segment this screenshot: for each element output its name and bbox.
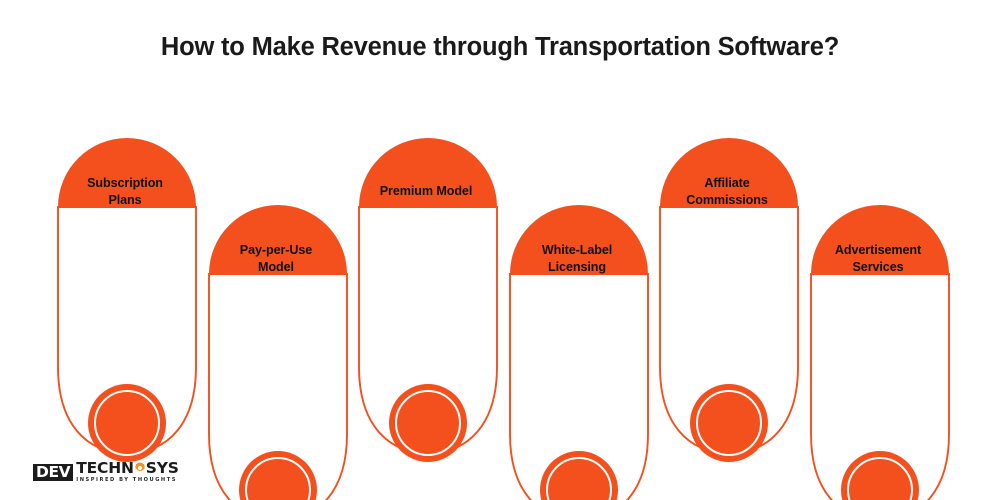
- logo-word-after: SYS: [146, 461, 179, 476]
- card-label-line-1: Subscription: [56, 175, 194, 192]
- badge-circle: [389, 384, 467, 462]
- logo-mark-dev: DEV: [33, 464, 73, 481]
- card-label-line-1: Affiliate: [658, 175, 796, 192]
- card-label: White-LabelLicensing: [508, 242, 646, 275]
- card-label-line-2: Plans: [56, 192, 194, 209]
- card-shape: [56, 135, 198, 395]
- card-label-line-1: Advertisement: [809, 242, 947, 259]
- card-shape: [809, 202, 951, 462]
- card-shape: [508, 202, 650, 462]
- badge-circle: [690, 384, 768, 462]
- card-label-line-1: White-Label: [508, 242, 646, 259]
- logo-word-before: TECHN: [76, 461, 133, 476]
- card-label: SubscriptionPlans: [56, 175, 194, 208]
- card-shape: [207, 202, 349, 462]
- card-label: Premium Model: [357, 183, 495, 200]
- logo-tagline: INSPIRED BY THOUGHTS: [76, 477, 178, 483]
- card-shape: [658, 135, 800, 395]
- card-label: AffiliateCommissions: [658, 175, 796, 208]
- card-label-line-2: Services: [809, 259, 947, 276]
- logo-text-group: TECHN SYS INSPIRED BY THOUGHTS: [76, 461, 178, 484]
- card-label-line-1: Premium Model: [357, 183, 495, 200]
- card-label-line-2: Model: [207, 259, 345, 276]
- card-label-line-1: Pay-per-Use: [207, 242, 345, 259]
- gear-icon: [134, 462, 146, 474]
- infographic-root: How to Make Revenue through Transportati…: [0, 0, 1000, 500]
- card-label-line-2: Commissions: [658, 192, 796, 209]
- brand-logo: DEV TECHN SYS INSPIRED BY THOUGHTS: [33, 459, 179, 485]
- card-label: AdvertisementServices: [809, 242, 947, 275]
- badge-circle: [88, 384, 166, 462]
- card-label-line-2: Licensing: [508, 259, 646, 276]
- steps-container: SubscriptionPlans01Pay-per-UseModel02Pre…: [0, 0, 1000, 500]
- logo-wordmark: TECHN SYS: [76, 461, 178, 476]
- card-shape: [357, 135, 499, 395]
- card-label: Pay-per-UseModel: [207, 242, 345, 275]
